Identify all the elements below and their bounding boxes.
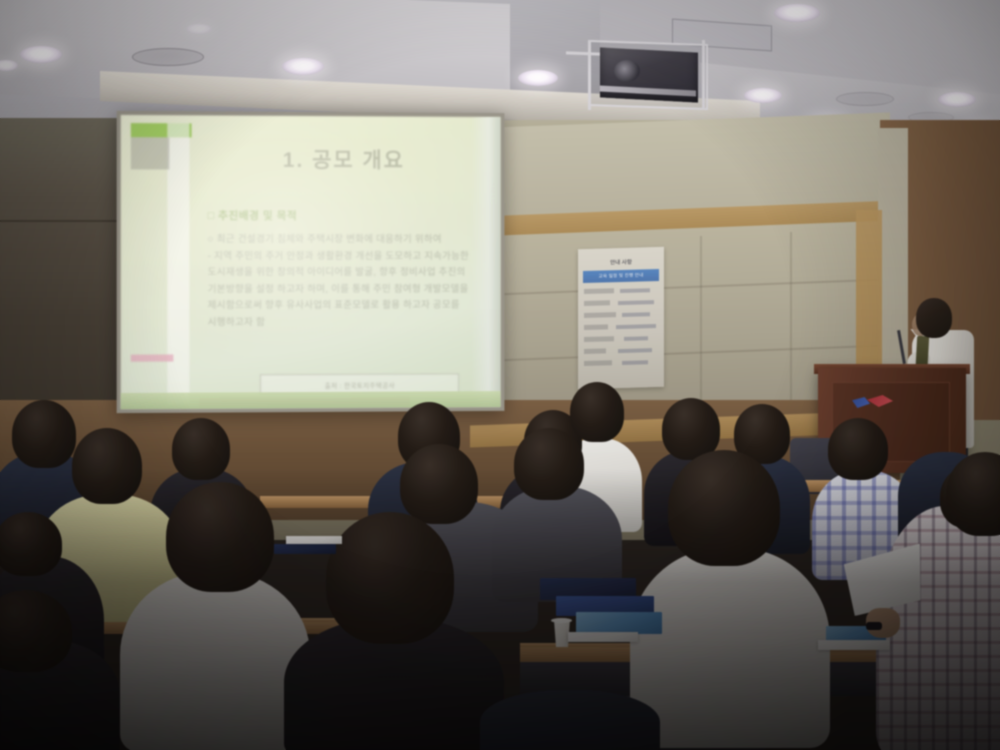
audience-head [828,418,888,480]
slide-left-margin [167,123,189,405]
audience-head [72,428,142,504]
recessed-downlight [938,92,976,107]
poster-text-cell [618,348,652,353]
wristwatch [866,622,882,630]
slide-caption-text: 출처 : 한국토지주택공사 [261,379,458,390]
seminar-room-photo: 안내 사항 교육 일정 및 진행 안내 1. 공모 개요 □ 추진배경 및 목적 [0,0,1000,750]
audience-head [326,512,454,644]
slide-body-text: ○ 최근 건설경기 침체와 주택시장 변화에 대응하기 위하여 - 지역 주민의… [208,232,492,332]
slide-body-line: 도시재생을 위한 창의적 아이디어를 발굴, 향후 정비사업 추진의 [208,265,492,281]
audience-head [400,444,478,524]
audience-member-white-shirt [630,548,830,748]
organization-logo [852,394,896,410]
audience-head [0,512,62,576]
poster-header-band: 교육 일정 및 진행 안내 [583,269,659,283]
recessed-downlight [774,4,820,22]
ceiling-vent-grille [132,48,204,66]
poster-text-row [584,324,608,330]
handout-paper [286,536,342,544]
left-wall [0,118,132,448]
screen-sheen [471,117,501,407]
left-wall-seam [0,220,132,222]
slide-body-line: 기본방향을 설정 하고자 하며, 이를 통해 주민 참여형 개발모델을 [208,282,492,298]
poster-text-row [584,336,614,342]
projector-mount-arm [702,40,705,110]
wall-panel-seam [790,232,792,422]
recessed-downlight [518,70,558,86]
poster-text-row [584,360,612,366]
poster-text-cell [622,312,650,317]
poster-text-cell [618,300,654,305]
slide-body-line: 시행하고자 함 [208,315,492,331]
poster-title: 안내 사항 [578,257,664,267]
audience-member [480,690,660,750]
handout-paper [568,632,638,642]
binder-folder [576,612,662,634]
recessed-downlight [20,46,62,63]
slide-body-line: 제시함으로써 향후 유사사업의 표준모델로 활용 하고자 공모를 [208,298,492,314]
recessed-downlight [744,88,782,103]
projection-screen: 1. 공모 개요 □ 추진배경 및 목적 ○ 최근 건설경기 침체와 주택시장 … [117,111,505,413]
presenter-head [916,298,952,338]
ceiling-vent-grille [836,92,894,106]
wall-panel-seam [700,236,702,426]
paper-cup-rim [551,618,572,623]
audience-member-white-shirt [120,572,310,750]
audience-head [12,400,76,468]
slide-body-line: - 지역 주민의 주거 안정과 생활환경 개선을 도모하고 지속가능한 [208,249,492,265]
recessed-downlight [282,58,324,75]
audience-head [172,418,230,480]
projector-mount-arm [588,40,591,110]
audience-head [166,482,274,592]
audience-head [514,428,584,500]
wall-notice-poster: 안내 사항 교육 일정 및 진행 안내 [578,247,664,389]
handout-paper [818,640,890,650]
poster-text-cell [620,288,650,293]
recessed-downlight [186,24,212,34]
slide-title: 1. 공모 개요 [194,143,493,174]
audience-head [570,382,624,442]
poster-header-text: 교육 일정 및 진행 안내 [583,269,659,283]
logo-red-shape [867,395,893,407]
slide-subtitle: □ 추진배경 및 목적 [208,208,487,223]
binder-folder [274,544,336,554]
poster-text-row [584,288,614,294]
poster-text-cell [616,324,656,329]
poster-text-row [584,312,616,318]
slide-gray-block [131,137,169,169]
slide-pink-accent [131,354,173,361]
poster-text-cell [622,360,648,365]
projector-lens-icon [614,60,640,82]
slide-body-line: ○ 최근 건설경기 침체와 주택시장 변화에 대응하기 위하여 [208,232,492,248]
audience-head [668,450,780,566]
poster-text-row [584,300,610,306]
poster-text-cell [624,336,648,341]
poster-text-row [584,348,606,354]
logo-blue-shape [852,397,870,408]
projection-screen-surface: 1. 공모 개요 □ 추진배경 및 목적 ○ 최근 건설경기 침체와 주택시장 … [121,115,501,409]
